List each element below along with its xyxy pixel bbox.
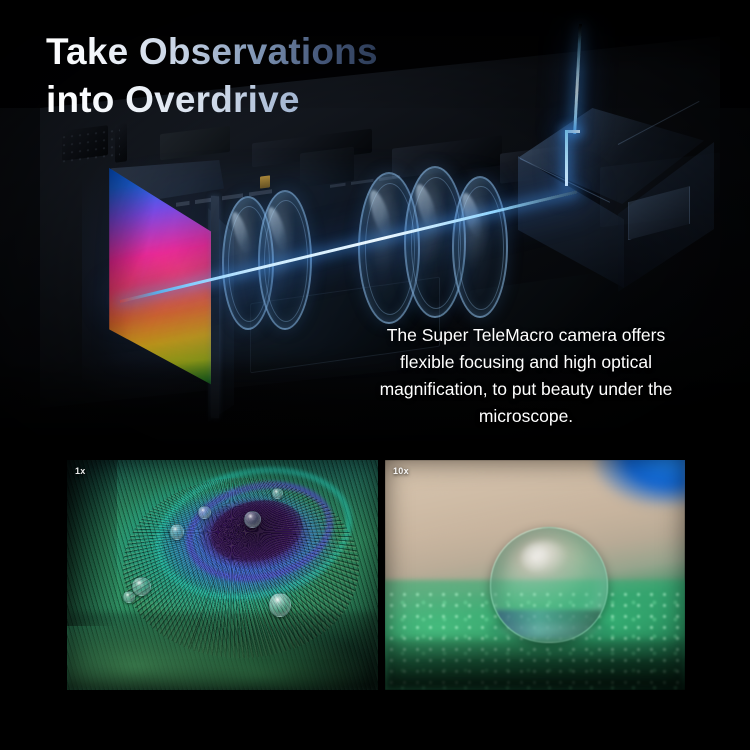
peacock-feather-photo — [67, 460, 378, 690]
blue-highlight-corner — [595, 460, 685, 506]
board-component — [300, 147, 354, 188]
glass-cube-sensor — [500, 108, 720, 308]
droplet-macro-photo — [385, 460, 685, 690]
photo-panel-10x[interactable]: 10x — [385, 460, 685, 690]
zoom-level-badge: 10x — [393, 466, 409, 476]
photo-bottom-shadow — [385, 639, 685, 690]
photo-left-shadow — [67, 460, 117, 626]
water-droplet — [244, 511, 261, 528]
water-droplet — [198, 506, 211, 519]
prism-spectrum-face — [106, 168, 214, 386]
feature-description: The Super TeleMacro camera offers flexib… — [360, 322, 692, 430]
headline-line-2: into Overdrive — [46, 76, 378, 124]
light-beam-step — [566, 130, 580, 133]
large-water-droplet — [490, 527, 608, 643]
photo-panel-1x[interactable]: 1x — [67, 460, 378, 690]
headline-line-1: Take Observations — [46, 28, 378, 76]
feather-foreground-blur — [67, 612, 378, 690]
water-droplet — [123, 591, 135, 603]
page-title: Take Observations into Overdrive — [46, 28, 378, 124]
water-droplet — [170, 524, 184, 540]
zoom-comparison-gallery: 1x 10x — [67, 460, 685, 690]
zoom-level-badge: 1x — [75, 466, 86, 476]
water-droplet — [272, 488, 283, 499]
prism-edge — [211, 196, 219, 419]
promo-page: Take Observations into Overdrive The Sup… — [0, 0, 750, 750]
light-beam-vertical-lower — [565, 130, 568, 186]
